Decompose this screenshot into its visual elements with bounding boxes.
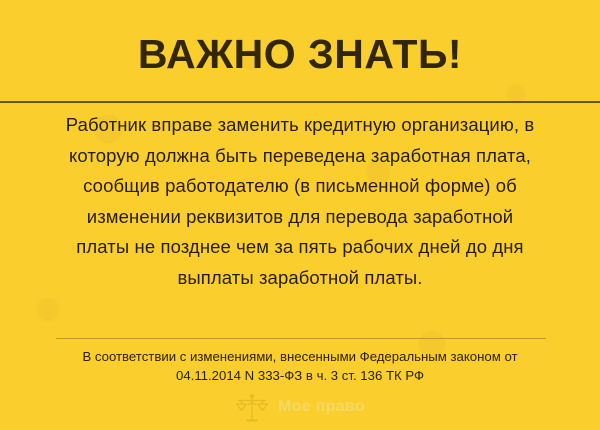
footnote-line: В соответствии с изменениями, внесенными… [18,347,582,366]
body-line: которую должна быть переведена заработна… [18,141,582,172]
footnote-divider [56,338,546,339]
watermark: Мое право [0,391,600,425]
title-divider [0,101,600,103]
body-line: платы не позднее чем за пять рабочих дне… [18,232,582,263]
poster: ВАЖНО ЗНАТЬ! Работник вправе заменить кр… [0,0,600,430]
body-line: выплаты заработной платы. [18,263,582,294]
body-line: изменении реквизитов для перевода зарабо… [18,202,582,233]
body-line: сообщив работодателю (в письменной форме… [18,171,582,202]
scales-of-justice-icon [235,391,269,425]
footnote-line: 04.11.2014 N 333-ФЗ в ч. 3 ст. 136 ТК РФ [18,366,582,385]
page-title: ВАЖНО ЗНАТЬ! [138,28,462,75]
body-line: Работник вправе заменить кредитную орган… [18,110,582,141]
title-area: ВАЖНО ЗНАТЬ! [0,0,600,102]
watermark-label: Мое право [278,399,365,417]
body-text-block: Работник вправе заменить кредитную орган… [18,110,582,293]
footnote-block: В соответствии с изменениями, внесенными… [18,347,582,385]
